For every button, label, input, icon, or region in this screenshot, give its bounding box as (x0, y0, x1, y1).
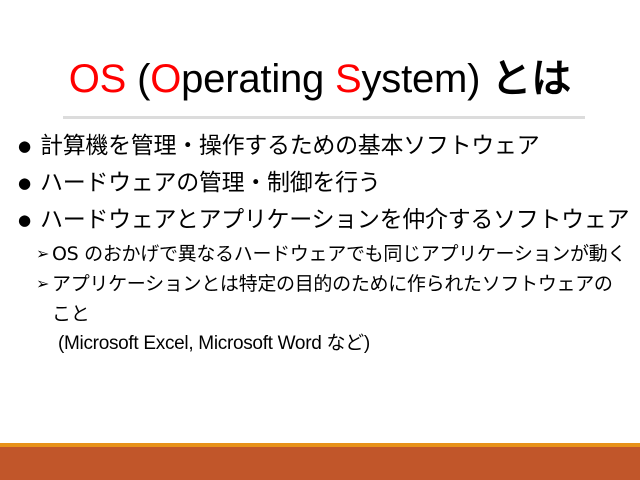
list-item-label: ハードウェアとアプリケーションを仲介するソフトウェア (40, 202, 629, 239)
list-item: ● ハードウェアの管理・制御を行う (18, 165, 628, 202)
page-title: OS (Operating System) とは (0, 55, 640, 103)
slide-canvas: OS (Operating System) とは ● 計算機を管理・操作するため… (0, 0, 640, 480)
filled-round-bullet-icon: ● (18, 165, 40, 202)
arrowhead-bullet-icon: ➢ (36, 269, 52, 299)
sub-list-item-continuation: (Microsoft Excel, Microsoft Word など) (52, 329, 628, 359)
list-item-label: ハードウェアの管理・制御を行う (40, 165, 381, 202)
title-segment-paren-open: ( (126, 57, 150, 101)
arrowhead-bullet-icon: ➢ (36, 239, 52, 269)
title-segment-toha: とは (491, 56, 571, 102)
content-body: ● 計算機を管理・操作するための基本ソフトウェア ● ハードウェアの管理・制御を… (18, 128, 628, 359)
filled-round-bullet-icon: ● (18, 128, 40, 165)
footer-color-band (0, 447, 640, 480)
sub-list-item-label: OS のおかげで異なるハードウェアでも同じアプリケーションが動く (52, 239, 626, 269)
list-item: ● ハードウェアとアプリケーションを仲介するソフトウェア (18, 202, 628, 239)
sub-list-item: ➢ アプリケーションとは特定の目的のために作られたソフトウェアのこと(Micro… (18, 269, 628, 359)
title-segment-perating: perating (181, 57, 335, 101)
list-item: ● 計算機を管理・操作するための基本ソフトウェア (18, 128, 628, 165)
title-segment-o: O (150, 57, 181, 101)
sub-list-item-main-text: アプリケーションとは特定の目的のために作られたソフトウェアのこと (52, 273, 613, 325)
title-segment-s: S (335, 57, 361, 101)
title-separator-rule (63, 116, 585, 119)
sub-list-item-label: アプリケーションとは特定の目的のために作られたソフトウェアのこと(Microso… (52, 269, 628, 359)
title-block: OS (Operating System) とは (0, 55, 640, 103)
filled-round-bullet-icon: ● (18, 202, 40, 239)
list-item-label: 計算機を管理・操作するための基本ソフトウェア (40, 128, 539, 165)
title-segment-ystem: ystem) (362, 57, 481, 101)
title-segment-os: OS (69, 57, 126, 101)
sub-list-item: ➢ OS のおかげで異なるハードウェアでも同じアプリケーションが動く (18, 239, 628, 269)
